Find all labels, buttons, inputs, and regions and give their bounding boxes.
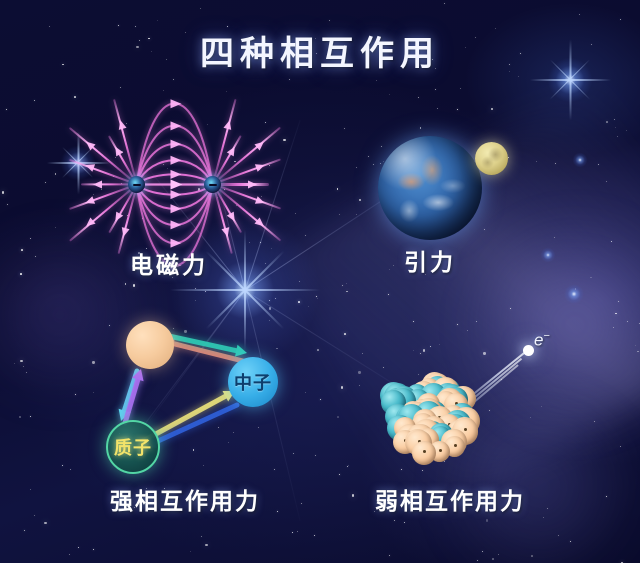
dipole-pole-left	[128, 176, 145, 193]
caption-strong-interaction: 强相互作用力	[110, 482, 260, 516]
neutron-circle: 中子	[228, 357, 278, 407]
electromagnetic-field-diagram	[60, 105, 270, 265]
nucleus-cluster-icon	[366, 356, 491, 474]
page-title: 四种相互作用	[0, 26, 640, 75]
neutron-label: 中子	[234, 369, 272, 395]
emitted-electron-icon	[523, 345, 534, 356]
nebula-glow-right	[470, 210, 640, 440]
nucleon-circle	[126, 321, 174, 369]
nucleon-sphere	[412, 441, 436, 465]
strong-interaction-diagram: 中子 质子	[85, 305, 285, 470]
field-spoke-left-head-0	[93, 180, 102, 188]
caption-gravity: 引力	[404, 243, 456, 277]
proton-circle: 质子	[106, 420, 160, 474]
dipole-pole-right	[204, 176, 221, 193]
earth-icon	[378, 136, 482, 240]
caption-weak-interaction: 弱相互作用力	[375, 482, 525, 516]
caption-electromagnetic: 电磁力	[130, 246, 208, 280]
field-spoke-right-head-0	[248, 180, 257, 188]
electron-label: e−	[534, 330, 550, 351]
field-spoke-left-head-8	[116, 119, 126, 130]
moon-icon	[475, 142, 508, 175]
space-illustration-canvas: 四种相互作用 电磁力 引力 中子 质子 强相互作用力 e− 弱相互作用力	[0, 0, 640, 563]
proton-label: 质子	[114, 434, 152, 460]
